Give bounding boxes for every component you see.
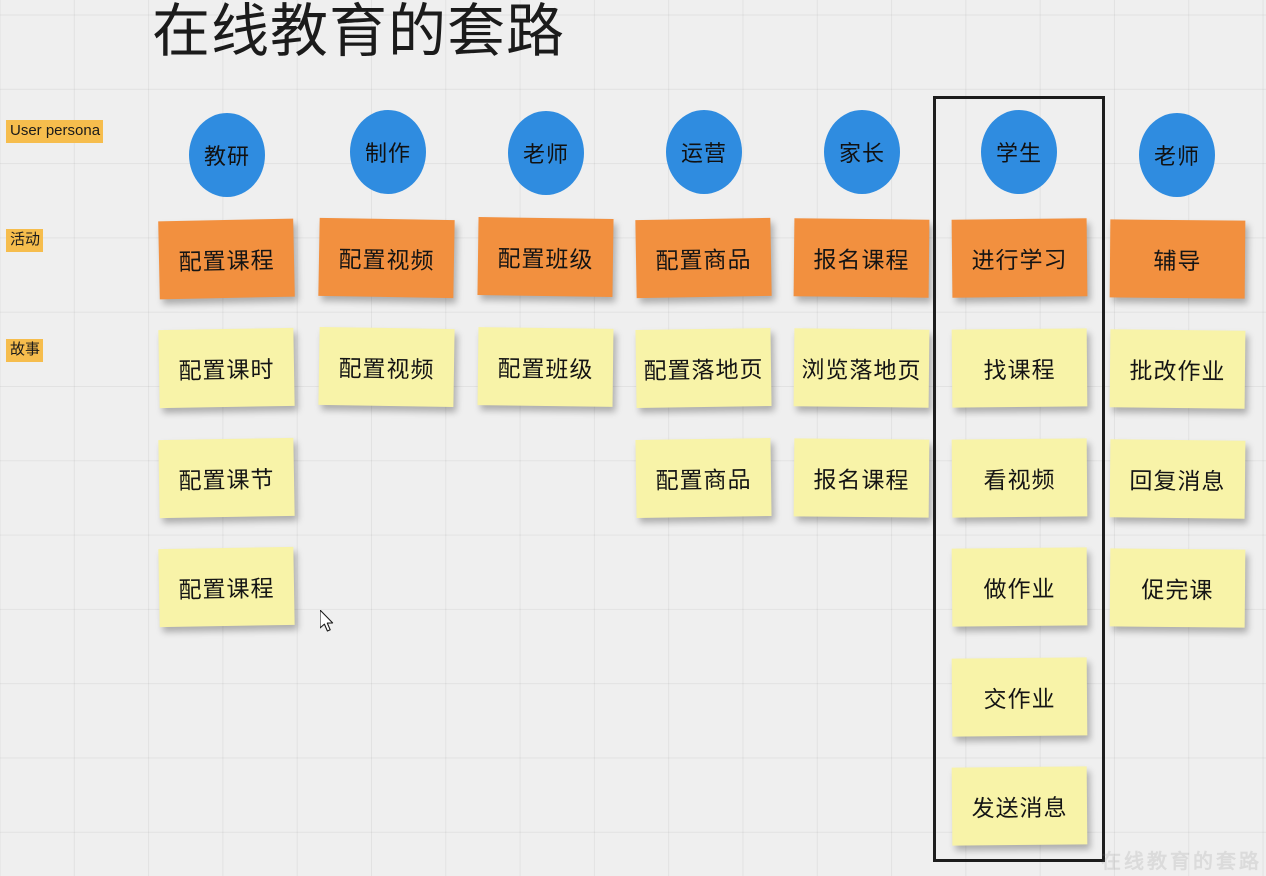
story-sticky-note[interactable]: 促完课 [1110,548,1246,627]
sticky-note-label: 回复消息 [1129,461,1225,496]
sticky-note-label: 配置课节 [178,460,275,496]
persona-circle[interactable]: 运营 [666,110,742,194]
story-sticky-note[interactable]: 看视频 [952,438,1088,517]
persona-label: 老师 [523,137,569,169]
story-sticky-note[interactable]: 找课程 [952,328,1088,407]
activity-sticky-note[interactable]: 配置班级 [477,217,613,297]
persona-label: 学生 [996,136,1042,168]
story-sticky-note[interactable]: 配置商品 [635,438,771,518]
story-sticky-note[interactable]: 做作业 [952,547,1088,626]
sticky-note-label: 配置商品 [655,460,751,495]
sticky-note-label: 做作业 [983,570,1055,605]
sticky-note-label: 配置落地页 [643,350,763,386]
persona-label: 家长 [839,136,885,168]
story-sticky-note[interactable]: 批改作业 [1110,329,1246,408]
activity-sticky-note[interactable]: 配置课程 [158,219,295,300]
story-sticky-note[interactable]: 配置班级 [478,327,614,407]
watermark: 在线教育的套路 [1101,845,1262,874]
sticky-note-label: 辅导 [1153,242,1201,276]
persona-circle[interactable]: 老师 [1139,113,1215,197]
story-sticky-note[interactable]: 配置落地页 [635,328,771,408]
activity-sticky-note[interactable]: 配置商品 [635,218,771,298]
sticky-note-label: 配置视频 [338,240,435,276]
story-sticky-note[interactable]: 回复消息 [1110,439,1246,518]
story-sticky-note[interactable]: 配置课程 [158,547,294,627]
persona-label: 老师 [1154,139,1200,171]
story-sticky-note[interactable]: 发送消息 [952,766,1088,845]
story-sticky-note[interactable]: 配置视频 [318,327,454,407]
sticky-note-label: 进行学习 [971,240,1067,275]
sticky-note-label: 配置商品 [655,240,752,276]
persona-circle[interactable]: 老师 [508,111,584,195]
sticky-note-label: 配置课时 [178,350,275,386]
persona-label: 教研 [204,139,250,171]
story-sticky-note[interactable]: 配置课节 [158,438,294,518]
sticky-note-label: 配置课程 [178,241,275,277]
sticky-note-label: 报名课程 [813,240,909,275]
row-label-activity: 活动 [6,229,43,252]
story-map-board: 在线教育的套路 User persona 活动 故事 教研制作老师运营家长学生老… [0,0,1266,876]
persona-circle[interactable]: 家长 [824,110,900,194]
persona-label: 运营 [681,136,727,168]
row-label-user-persona: User persona [6,120,103,143]
activity-sticky-note[interactable]: 配置视频 [318,218,454,298]
sticky-note-label: 发送消息 [971,789,1067,824]
persona-circle[interactable]: 学生 [981,110,1057,194]
sticky-note-label: 配置视频 [338,349,435,385]
sticky-note-label: 批改作业 [1129,351,1225,386]
sticky-note-label: 报名课程 [813,461,909,496]
sticky-note-label: 促完课 [1141,571,1213,606]
sticky-note-label: 配置班级 [497,349,593,384]
row-label-story: 故事 [6,339,43,362]
sticky-note-label: 配置班级 [497,239,593,274]
persona-label: 制作 [365,136,411,168]
story-sticky-note[interactable]: 配置课时 [158,328,294,408]
sticky-note-label: 配置课程 [178,569,275,605]
page-title: 在线教育的套路 [152,0,565,68]
story-sticky-note[interactable]: 浏览落地页 [794,328,930,407]
story-sticky-note[interactable]: 交作业 [952,657,1088,736]
story-sticky-note[interactable]: 报名课程 [794,438,930,517]
sticky-note-label: 浏览落地页 [801,350,921,385]
persona-circle[interactable]: 制作 [350,110,426,194]
sticky-note-label: 交作业 [983,680,1055,715]
sticky-note-label: 看视频 [983,461,1055,496]
activity-sticky-note[interactable]: 报名课程 [794,218,930,297]
activity-sticky-note[interactable]: 辅导 [1110,219,1246,298]
persona-circle[interactable]: 教研 [189,113,265,197]
activity-sticky-note[interactable]: 进行学习 [952,218,1088,297]
mouse-cursor-icon [320,610,336,634]
sticky-note-label: 找课程 [983,351,1055,386]
